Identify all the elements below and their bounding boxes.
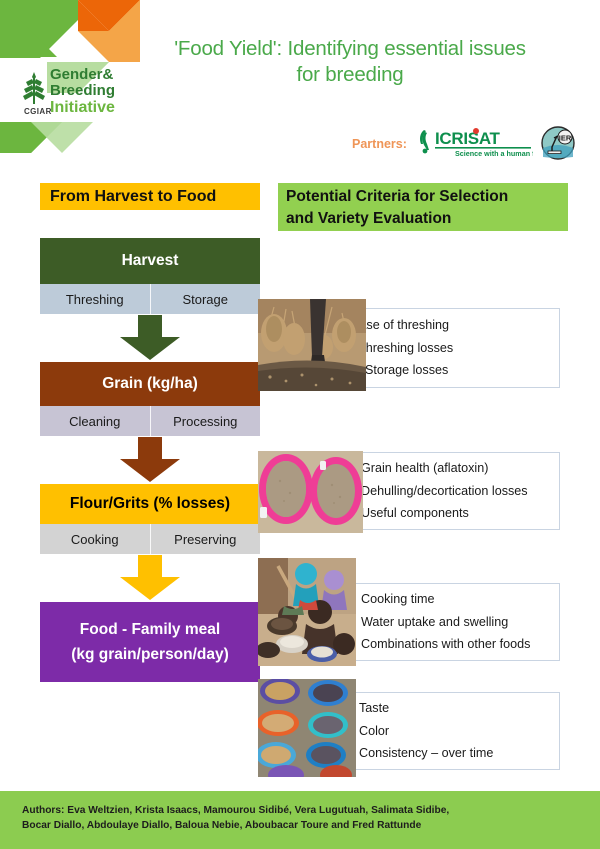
icrisat-logo: ICRISAT Science with a human face xyxy=(415,126,533,160)
section-header-right: Potential Criteria for Selection and Var… xyxy=(278,183,568,231)
criteria-item: Useful components xyxy=(361,502,528,525)
flow-substage-grain: Cleaning Processing xyxy=(40,406,260,436)
icrisat-tagline: Science with a human face xyxy=(455,149,533,158)
grain-bowls-photo xyxy=(258,451,363,533)
flow-substage-preserving: Preserving xyxy=(151,524,261,554)
criteria-item: Water uptake and swelling xyxy=(361,611,530,634)
section-header-right-line1: Potential Criteria for Selection xyxy=(286,186,560,208)
ier-wordmark: IER xyxy=(559,134,572,143)
svg-text:CGIAR: CGIAR xyxy=(24,107,52,116)
flow-stage-flour: Flour/Grits (% losses) xyxy=(40,484,260,524)
flow-substage-flour: Cooking Preserving xyxy=(40,524,260,554)
flow-stage-food-line1: Food - Family meal xyxy=(80,621,220,639)
prepared-food-photo xyxy=(258,679,356,777)
flow-substage-processing: Processing xyxy=(151,406,261,436)
criteria-item: Color xyxy=(359,720,493,743)
criteria-item: Consistency – over time xyxy=(359,742,493,765)
criteria-item: Taste xyxy=(359,697,493,720)
authors-line1: Authors: Eva Weltzien, Krista Isaacs, Ma… xyxy=(22,803,582,818)
down-arrow-icon-brown xyxy=(119,437,181,483)
page-title-line1: 'Food Yield': Identifying essential issu… xyxy=(140,36,560,62)
criteria-item: Grain health (aflatoxin) xyxy=(361,457,528,480)
footer: Authors: Eva Weltzien, Krista Isaacs, Ma… xyxy=(0,791,600,849)
criteria-list-4: Taste Color Consistency – over time xyxy=(349,697,493,765)
flow-substage-harvest: Threshing Storage xyxy=(40,284,260,314)
flow-stage-harvest: Harvest xyxy=(40,238,260,284)
criteria-item: Dehulling/decortication losses xyxy=(361,480,528,503)
flow-substage-threshing: Threshing xyxy=(40,284,151,314)
authors-credit: Authors: Eva Weltzien, Krista Isaacs, Ma… xyxy=(22,803,582,833)
flow-substage-cleaning: Cleaning xyxy=(40,406,151,436)
flow-substage-storage: Storage xyxy=(151,284,261,314)
criteria-item: Ease of threshing xyxy=(351,314,453,337)
poster-page: CGIAR Gender& Breeding Initiative 'Food … xyxy=(0,0,600,849)
flow-stage-grain: Grain (kg/ha) xyxy=(40,362,260,406)
partners-label: Partners: xyxy=(352,135,407,151)
criteria-card-4: Taste Color Consistency – over time xyxy=(348,692,560,770)
gbi-logo-wordmark: CGIAR Gender& Breeding Initiative xyxy=(20,63,145,115)
criteria-item: Threshing losses xyxy=(351,337,453,360)
down-arrow-icon-yellow xyxy=(119,555,181,601)
criteria-item: Combinations with other foods xyxy=(361,633,530,656)
icrisat-wordmark: ICRISAT xyxy=(435,129,501,148)
threshing-photo xyxy=(258,299,366,391)
flow-substage-cooking: Cooking xyxy=(40,524,151,554)
partners-row: Partners: ICRISAT Science with a human f… xyxy=(352,125,575,161)
section-header-right-line2: and Variety Evaluation xyxy=(286,208,560,230)
page-title: 'Food Yield': Identifying essential issu… xyxy=(140,36,560,88)
flow-stage-food-line2: (kg grain/person/day) xyxy=(71,646,229,664)
cooking-photo xyxy=(258,558,356,666)
logo-line1: Gender& xyxy=(50,66,114,83)
logo-line2: Breeding xyxy=(50,82,115,99)
flow-column: Harvest Threshing Storage Grain (kg/ha) … xyxy=(40,238,260,682)
flow-arrow-slot-3 xyxy=(40,554,260,602)
authors-line2: Bocar Diallo, Abdoulaye Diallo, Baloua N… xyxy=(22,818,582,833)
section-header-left: From Harvest to Food xyxy=(40,183,260,210)
flow-stage-food: Food - Family meal (kg grain/person/day) xyxy=(40,602,260,682)
criteria-item: Cooking time xyxy=(361,588,530,611)
page-title-line2: for breeding xyxy=(140,62,560,88)
flow-arrow-slot-1 xyxy=(40,314,260,362)
logo-line3: Initiative xyxy=(50,99,115,116)
down-arrow-icon-green xyxy=(119,315,181,361)
criteria-card-1: Ease of threshing Threshing losses Stora… xyxy=(340,308,560,388)
flow-arrow-slot-2 xyxy=(40,436,260,484)
ier-logo: IER xyxy=(541,126,575,160)
criteria-item: Storage losses xyxy=(351,359,453,382)
